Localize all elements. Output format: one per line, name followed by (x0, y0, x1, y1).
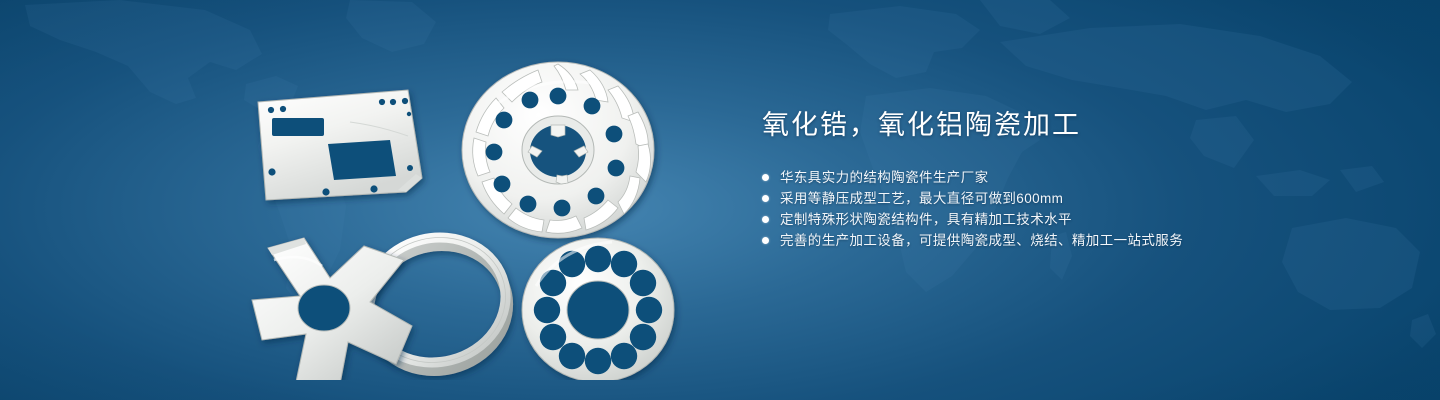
list-item-label: 定制特殊形状陶瓷结构件，具有精加工技术水平 (780, 209, 1072, 230)
bullet-dot-icon (762, 174, 769, 181)
bullet-dot-icon (762, 216, 769, 223)
ceramic-perforated-disc (522, 238, 674, 380)
list-item-label: 华东具实力的结构陶瓷件生产厂家 (780, 167, 989, 188)
ceramic-products-image (230, 40, 700, 380)
ceramic-vane-impeller (462, 62, 654, 238)
banner-copy: 氧化锆，氧化铝陶瓷加工 华东具实力的结构陶瓷件生产厂家 采用等静压成型工艺，最大… (762, 108, 1382, 251)
feature-list: 华东具实力的结构陶瓷件生产厂家 采用等静压成型工艺，最大直径可做到600mm 定… (762, 167, 1382, 251)
list-item: 定制特殊形状陶瓷结构件，具有精加工技术水平 (762, 209, 1382, 230)
ceramic-ring (353, 223, 521, 380)
bullet-dot-icon (762, 195, 769, 202)
list-item: 华东具实力的结构陶瓷件生产厂家 (762, 167, 1382, 188)
ceramic-machined-plate (258, 90, 422, 200)
hero-banner: 氧化锆，氧化铝陶瓷加工 华东具实力的结构陶瓷件生产厂家 采用等静压成型工艺，最大… (0, 0, 1440, 400)
bullet-dot-icon (762, 237, 769, 244)
list-item: 完善的生产加工设备，可提供陶瓷成型、烧结、精加工一站式服务 (762, 230, 1382, 251)
page-title: 氧化锆，氧化铝陶瓷加工 (762, 108, 1382, 142)
list-item-label: 采用等静压成型工艺，最大直径可做到600mm (780, 188, 1063, 209)
list-item: 采用等静压成型工艺，最大直径可做到600mm (762, 188, 1382, 209)
ceramic-cross-plate (252, 238, 412, 380)
list-item-label: 完善的生产加工设备，可提供陶瓷成型、烧结、精加工一站式服务 (780, 230, 1183, 251)
